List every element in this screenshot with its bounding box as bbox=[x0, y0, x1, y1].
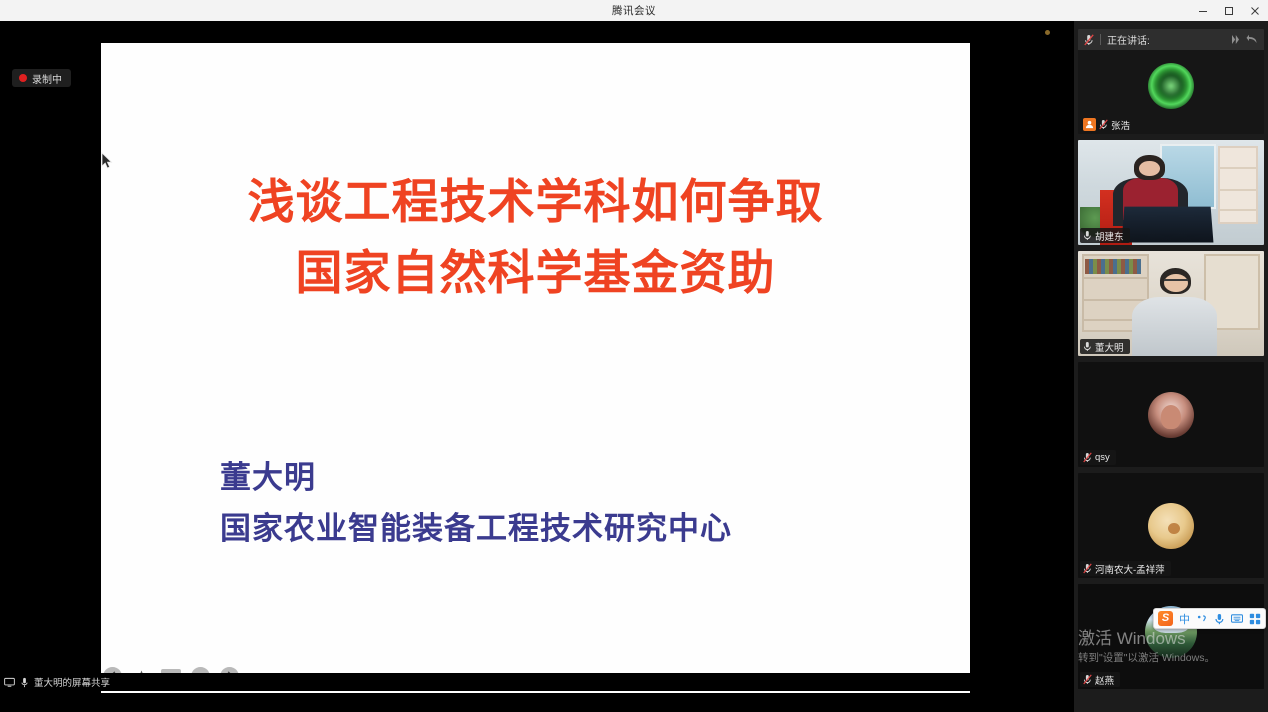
participant-name-chip: 张浩 bbox=[1080, 117, 1136, 132]
keyboard-icon[interactable] bbox=[1231, 613, 1243, 625]
shared-screen-stage: 录制中 浅谈工程技术学科如何争取 国家自然科学基金资助 董大明 国家农业智能装备… bbox=[0, 21, 1074, 691]
participant-name: 河南农大-孟祥萍 bbox=[1095, 562, 1165, 576]
arrow-back-icon bbox=[1246, 34, 1258, 45]
share-status-dot-icon bbox=[1045, 30, 1050, 35]
window-title: 腾讯会议 bbox=[612, 3, 656, 18]
screen-share-taskbar: 董大明的屏幕共享 bbox=[0, 673, 1074, 691]
speaking-header: 正在讲话: bbox=[1078, 29, 1264, 50]
recording-label: 录制中 bbox=[32, 71, 62, 86]
participant-name-chip: 董大明 bbox=[1080, 339, 1130, 354]
rail-header-actions[interactable] bbox=[1230, 34, 1258, 45]
monitor-icon bbox=[4, 677, 15, 688]
slide-author: 董大明 bbox=[220, 453, 316, 504]
punctuation-icon[interactable] bbox=[1196, 613, 1208, 625]
mic-muted-icon bbox=[1083, 563, 1092, 574]
close-button[interactable] bbox=[1242, 0, 1268, 21]
mic-muted-icon bbox=[1083, 452, 1092, 463]
slide-title: 浅谈工程技术学科如何争取 国家自然科学基金资助 bbox=[101, 167, 970, 310]
participant-tile[interactable]: 正在讲话: bbox=[1078, 29, 1264, 134]
header-divider bbox=[1100, 34, 1101, 45]
participant-name: qsy bbox=[1095, 452, 1110, 463]
avatar bbox=[1148, 503, 1194, 549]
title-bar: 腾讯会议 bbox=[0, 0, 1268, 21]
participant-name-chip: qsy bbox=[1080, 450, 1116, 465]
participant-name: 张浩 bbox=[1111, 118, 1130, 132]
avatar bbox=[1148, 392, 1194, 438]
participant-name: 胡建东 bbox=[1095, 229, 1124, 243]
participant-name: 董大明 bbox=[1095, 340, 1124, 354]
recording-indicator: 录制中 bbox=[12, 69, 71, 87]
host-badge-icon bbox=[1083, 118, 1096, 131]
grid-icon[interactable] bbox=[1249, 613, 1261, 625]
participant-rail: 正在讲话: bbox=[1074, 21, 1268, 712]
sogou-logo-icon[interactable]: S bbox=[1158, 611, 1173, 626]
mic-muted-icon bbox=[1083, 674, 1092, 685]
ime-mode-toggle[interactable]: 中 bbox=[1179, 611, 1190, 627]
participant-tile[interactable]: qsy bbox=[1078, 362, 1264, 467]
microphone-icon bbox=[20, 677, 29, 688]
slide-organization: 国家农业智能装备工程技术研究中心 bbox=[220, 504, 732, 555]
participant-name-chip: 胡建东 bbox=[1080, 228, 1130, 243]
speaking-label: 正在讲话: bbox=[1107, 32, 1150, 47]
recording-dot-icon bbox=[19, 74, 27, 82]
participant-tile[interactable]: 董大明 bbox=[1078, 251, 1264, 356]
screen-share-label: 董大明的屏幕共享 bbox=[34, 675, 110, 689]
minimize-button[interactable] bbox=[1190, 0, 1216, 21]
chevrons-collapse-icon bbox=[1230, 34, 1244, 45]
participant-name-chip: 赵燕 bbox=[1080, 672, 1120, 687]
avatar bbox=[1148, 63, 1194, 109]
mouse-cursor-icon bbox=[101, 152, 113, 175]
sogou-ime-toolbar[interactable]: S 中 bbox=[1153, 608, 1266, 629]
microphone-icon bbox=[1083, 230, 1092, 241]
mic-muted-icon bbox=[1099, 119, 1108, 130]
participant-tile[interactable]: 胡建东 bbox=[1078, 140, 1264, 245]
maximize-button[interactable] bbox=[1216, 0, 1242, 21]
microphone-icon[interactable] bbox=[1214, 613, 1225, 625]
window-controls bbox=[1190, 0, 1268, 21]
participant-tile[interactable]: 河南农大-孟祥萍 bbox=[1078, 473, 1264, 578]
mic-muted-icon bbox=[1084, 34, 1094, 46]
presentation-slide: 浅谈工程技术学科如何争取 国家自然科学基金资助 董大明 国家农业智能装备工程技术… bbox=[101, 43, 970, 693]
microphone-icon bbox=[1083, 341, 1092, 352]
participant-name: 赵燕 bbox=[1095, 673, 1114, 687]
participant-tile[interactable]: 赵燕 bbox=[1078, 584, 1264, 689]
meeting-window: 腾讯会议 录制中 浅谈工程技术学科如何争取 国家自然科学基金资助 董大明 国家农… bbox=[0, 0, 1268, 712]
participant-name-chip: 河南农大-孟祥萍 bbox=[1080, 561, 1171, 576]
